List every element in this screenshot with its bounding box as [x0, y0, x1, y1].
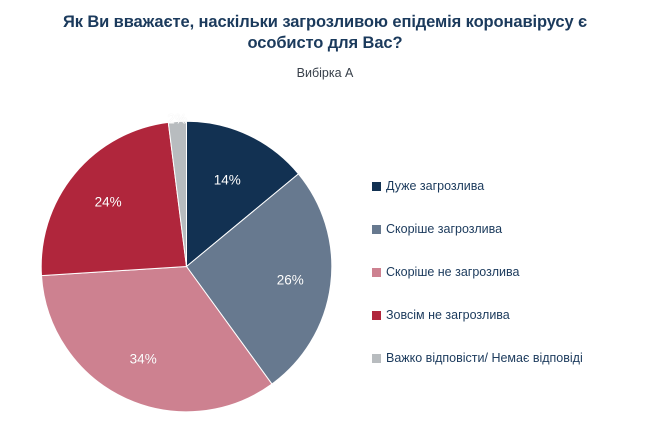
legend-item[interactable]: Важко відповісти/ Немає відповіді	[372, 350, 644, 393]
pie-data-label: 34%	[130, 351, 157, 366]
pie-data-label: 24%	[95, 194, 122, 209]
legend-item[interactable]: Скоріше загрозлива	[372, 221, 644, 264]
legend-item-label: Важко відповісти/ Немає відповіді	[386, 350, 583, 366]
legend-item-label: Скоріше загрозлива	[386, 221, 502, 237]
legend-swatch-icon	[372, 225, 381, 234]
legend-item-label: Дуже загрозлива	[386, 178, 484, 194]
chart-title-line-1: Як Ви вважаєте, наскільки загрозливою еп…	[63, 13, 587, 31]
pie-chart: 14%26%34%24%2%	[41, 121, 332, 412]
legend-swatch-icon	[372, 268, 381, 277]
chart-page: Як Ви вважаєте, наскільки загрозливою еп…	[0, 0, 650, 421]
chart-legend: Дуже загрозливаСкоріше загрозливаСкоріше…	[372, 178, 644, 393]
pie-slice-group	[41, 121, 332, 412]
legend-item[interactable]: Зовсім не загрозлива	[372, 307, 644, 350]
legend-item-label: Зовсім не загрозлива	[386, 307, 510, 323]
chart-title-line-2: особисто для Вас?	[248, 34, 403, 52]
pie-svg	[41, 121, 332, 412]
pie-data-label: 26%	[277, 272, 304, 287]
legend-swatch-icon	[372, 354, 381, 363]
chart-title: Як Ви вважаєте, наскільки загрозливою еп…	[18, 12, 632, 54]
legend-swatch-icon	[372, 182, 381, 191]
legend-item-label: Скоріше не загрозлива	[386, 264, 519, 280]
legend-item[interactable]: Скоріше не загрозлива	[372, 264, 644, 307]
pie-data-label: 14%	[214, 172, 241, 187]
chart-subtitle: Вибірка А	[18, 66, 632, 80]
legend-swatch-icon	[372, 311, 381, 320]
pie-data-label: 2%	[167, 111, 187, 126]
legend-item[interactable]: Дуже загрозлива	[372, 178, 644, 221]
